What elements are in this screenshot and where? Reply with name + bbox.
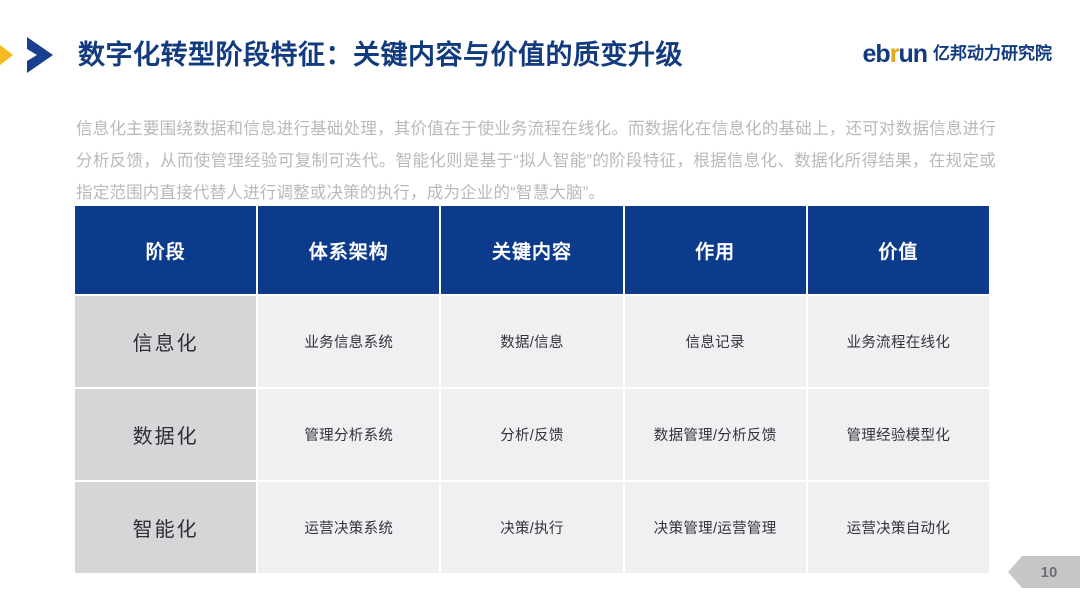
header-arrow-group xyxy=(0,33,72,77)
table-row: 信息化 业务信息系统 数据/信息 信息记录 业务流程在线化 xyxy=(75,296,989,387)
cell-value: 业务流程在线化 xyxy=(808,296,989,387)
stage-comparison-table: 阶段 体系架构 关键内容 作用 价值 信息化 业务信息系统 数据/信息 信息记录… xyxy=(73,204,991,575)
table-row: 智能化 运营决策系统 决策/执行 决策管理/运营管理 运营决策自动化 xyxy=(75,482,989,573)
cell-architecture: 业务信息系统 xyxy=(258,296,439,387)
logo-chinese-name: 亿邦动力研究院 xyxy=(933,41,1052,67)
cell-function: 决策管理/运营管理 xyxy=(625,482,806,573)
brand-logo: ebrun 亿邦动力研究院 xyxy=(863,40,1052,68)
cell-value: 管理经验模型化 xyxy=(808,389,989,480)
column-header-key-content: 关键内容 xyxy=(441,206,622,294)
logo-word-post: un xyxy=(898,40,927,68)
table-header-row: 阶段 体系架构 关键内容 作用 价值 xyxy=(75,206,989,294)
column-header-stage: 阶段 xyxy=(75,206,256,294)
chevron-right-gold-icon xyxy=(0,33,27,77)
slide-canvas: 数字化转型阶段特征：关键内容与价值的质变升级 ebrun 亿邦动力研究院 信息化… xyxy=(0,0,1080,608)
intro-paragraph: 信息化主要围绕数据和信息进行基础处理，其价值在于使业务流程在线化。而数据化在信息… xyxy=(76,113,996,209)
cell-architecture: 运营决策系统 xyxy=(258,482,439,573)
table-body: 信息化 业务信息系统 数据/信息 信息记录 业务流程在线化 数据化 管理分析系统… xyxy=(75,296,989,573)
page-number-badge: 10 xyxy=(1008,556,1080,588)
cell-stage: 智能化 xyxy=(75,482,256,573)
cell-stage: 信息化 xyxy=(75,296,256,387)
cell-function: 数据管理/分析反馈 xyxy=(625,389,806,480)
table-head: 阶段 体系架构 关键内容 作用 价值 xyxy=(75,206,989,294)
column-header-function: 作用 xyxy=(625,206,806,294)
chevron-right-navy-icon xyxy=(25,33,65,77)
cell-key-content: 决策/执行 xyxy=(441,482,622,573)
cell-architecture: 管理分析系统 xyxy=(258,389,439,480)
column-header-value: 价值 xyxy=(808,206,989,294)
column-header-architecture: 体系架构 xyxy=(258,206,439,294)
logo-wordmark: ebrun xyxy=(863,41,927,67)
cell-value: 运营决策自动化 xyxy=(808,482,989,573)
cell-stage: 数据化 xyxy=(75,389,256,480)
table-row: 数据化 管理分析系统 分析/反馈 数据管理/分析反馈 管理经验模型化 xyxy=(75,389,989,480)
cell-key-content: 数据/信息 xyxy=(441,296,622,387)
cell-function: 信息记录 xyxy=(625,296,806,387)
logo-word-pre: eb xyxy=(863,40,890,68)
cell-key-content: 分析/反馈 xyxy=(441,389,622,480)
page-title: 数字化转型阶段特征：关键内容与价值的质变升级 xyxy=(78,36,683,74)
